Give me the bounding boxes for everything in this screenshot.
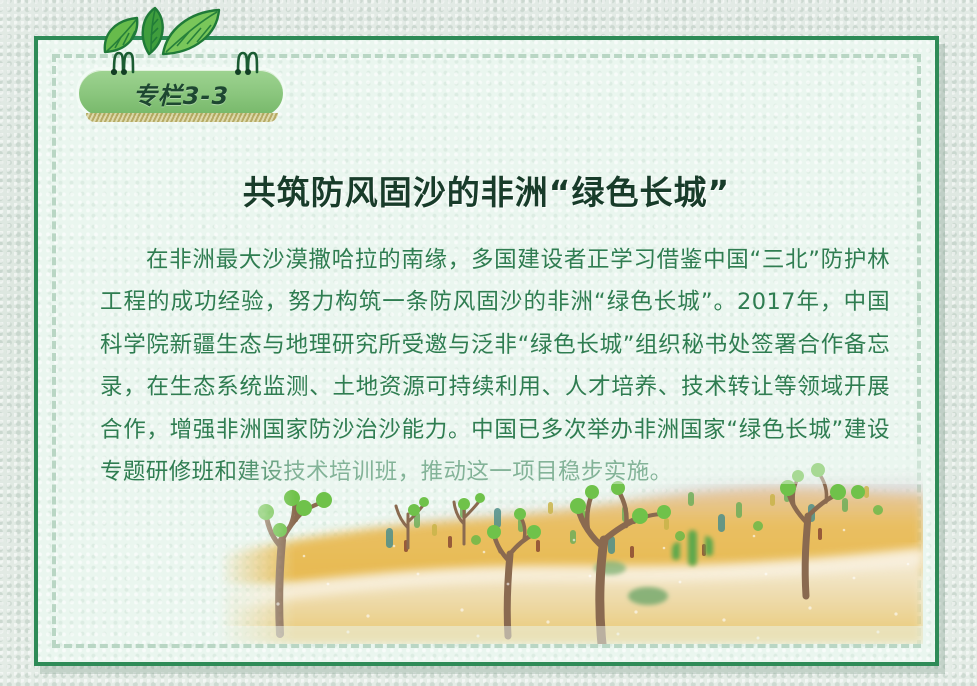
ring-clip-icon [106, 48, 136, 78]
page-title: 共筑防风固沙的非洲“绿色长城” [38, 166, 935, 214]
column-badge: 专栏3-3 [70, 61, 292, 121]
feature-box-card: 专栏3-3 共筑防风固沙的非洲“绿色 [34, 36, 939, 666]
ring-clip-icon [230, 48, 260, 78]
sahel-desert-greening-illustration [218, 444, 923, 644]
